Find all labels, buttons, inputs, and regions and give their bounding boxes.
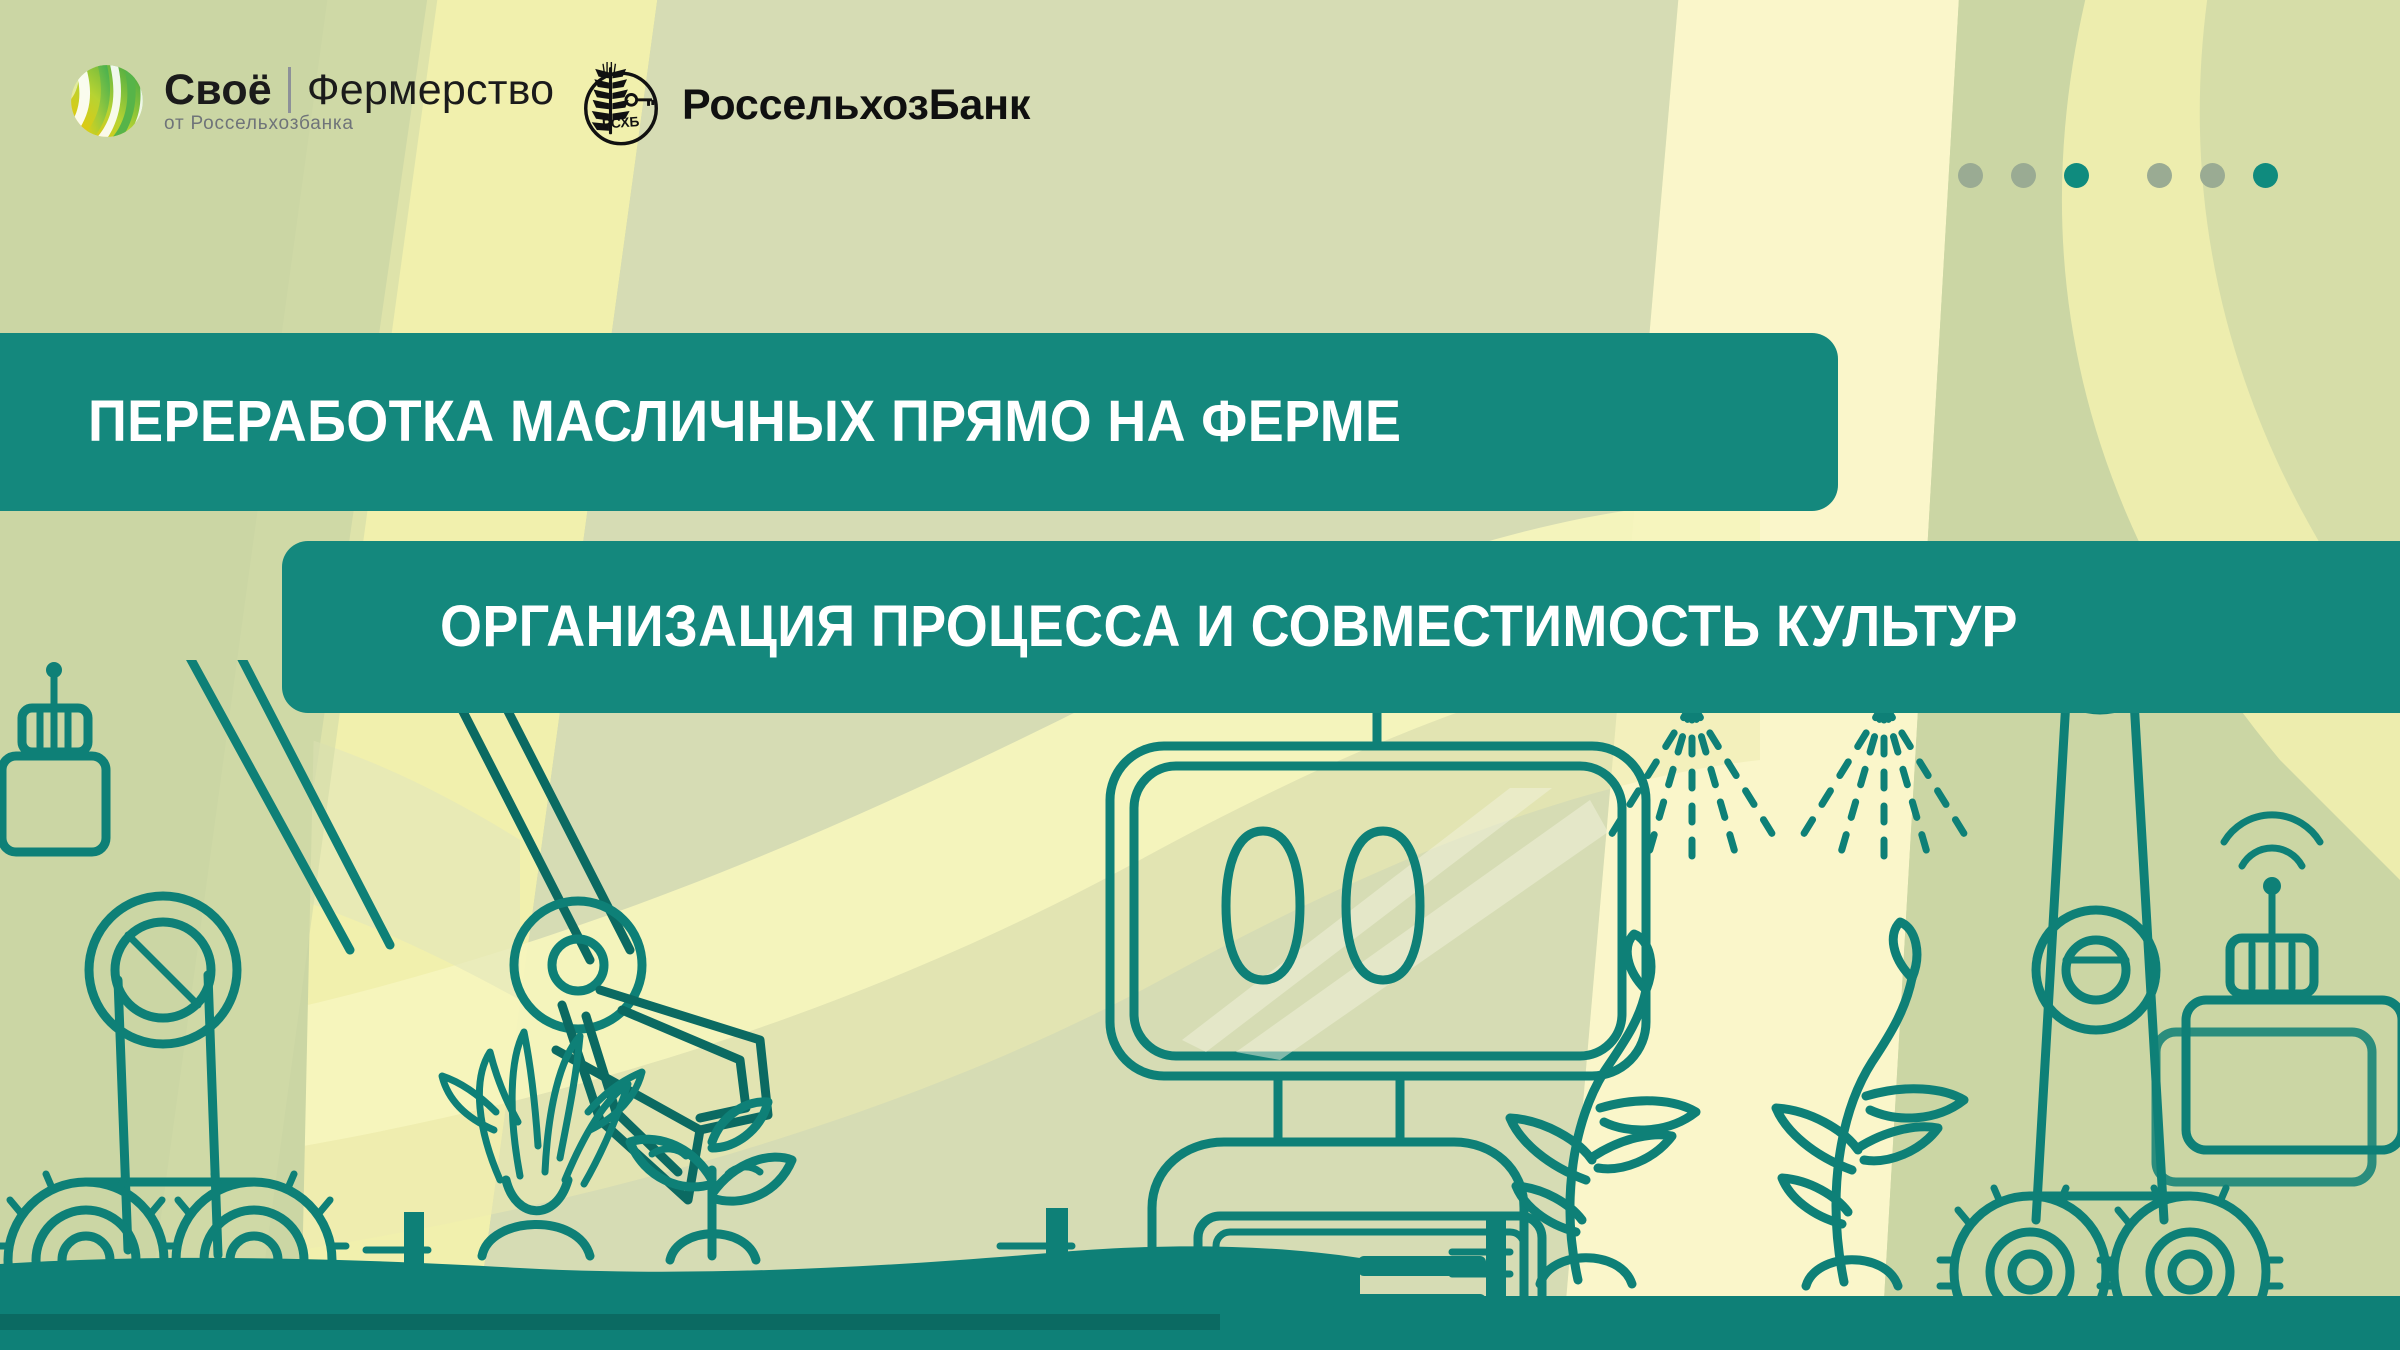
rshb-wordmark: РоссельхозБанк <box>682 81 1030 130</box>
svg-text:РСХБ: РСХБ <box>602 114 640 132</box>
pagination-dot-2[interactable] <box>2011 163 2036 188</box>
pagination-dot-1[interactable] <box>1958 163 1983 188</box>
vine-plant-right <box>1776 922 1964 1286</box>
brand-word-fermerstvo: Фермерство <box>307 69 554 112</box>
banner-title-sub-text: ОРГАНИЗАЦИЯ ПРОЦЕССА И СОВМЕСТИМОСТЬ КУЛ… <box>440 598 2018 656</box>
poster-root: Своё Фермерство от Россельхозбанка <box>0 0 2400 1350</box>
wifi-antenna-box-left <box>2 660 106 852</box>
brand-subtitle: от Россельхозбанка <box>164 113 354 134</box>
banner-title-main: ПЕРЕРАБОТКА МАСЛИЧНЫХ ПРЯМО НА ФЕРМЕ <box>0 333 1838 511</box>
pagination-dot-6-active[interactable] <box>2253 163 2278 188</box>
banner-title-main-text: ПЕРЕРАБОТКА МАСЛИЧНЫХ ПРЯМО НА ФЕРМЕ <box>88 393 1401 451</box>
illustration-agritech-scene: .ln{fill:none;stroke:#0e8077;stroke-widt… <box>0 660 2400 1350</box>
robotic-arm-right <box>2032 660 2168 1220</box>
banner-title-sub: ОРГАНИЗАЦИЯ ПРОЦЕССА И СОВМЕСТИМОСТЬ КУЛ… <box>282 541 2400 713</box>
svoe-circle-gradient-icon <box>68 62 146 140</box>
pagination-dots[interactable] <box>1958 163 2278 188</box>
beet-plant <box>442 1032 642 1256</box>
pagination-dot-3-active[interactable] <box>2064 163 2089 188</box>
pagination-dot-4[interactable] <box>2147 163 2172 188</box>
brand-word-svoe: Своё <box>164 69 272 112</box>
brand-logo-rosselkhozbank[interactable]: РСХБ РоссельхозБанк <box>578 62 1030 148</box>
header: Своё Фермерство от Россельхозбанка <box>0 0 2400 210</box>
wifi-antenna-box-right <box>2156 815 2400 1182</box>
svoe-wordmark: Своё Фермерство от Россельхозбанка <box>164 67 554 135</box>
brand-divider <box>288 67 291 113</box>
robotic-arm-claw-left <box>89 660 768 1255</box>
rshb-wheat-key-circle-icon: РСХБ <box>578 62 664 148</box>
pagination-dot-5[interactable] <box>2200 163 2225 188</box>
brand-logo-svoe-fermerstvo[interactable]: Своё Фермерство от Россельхозбанка <box>68 62 554 140</box>
